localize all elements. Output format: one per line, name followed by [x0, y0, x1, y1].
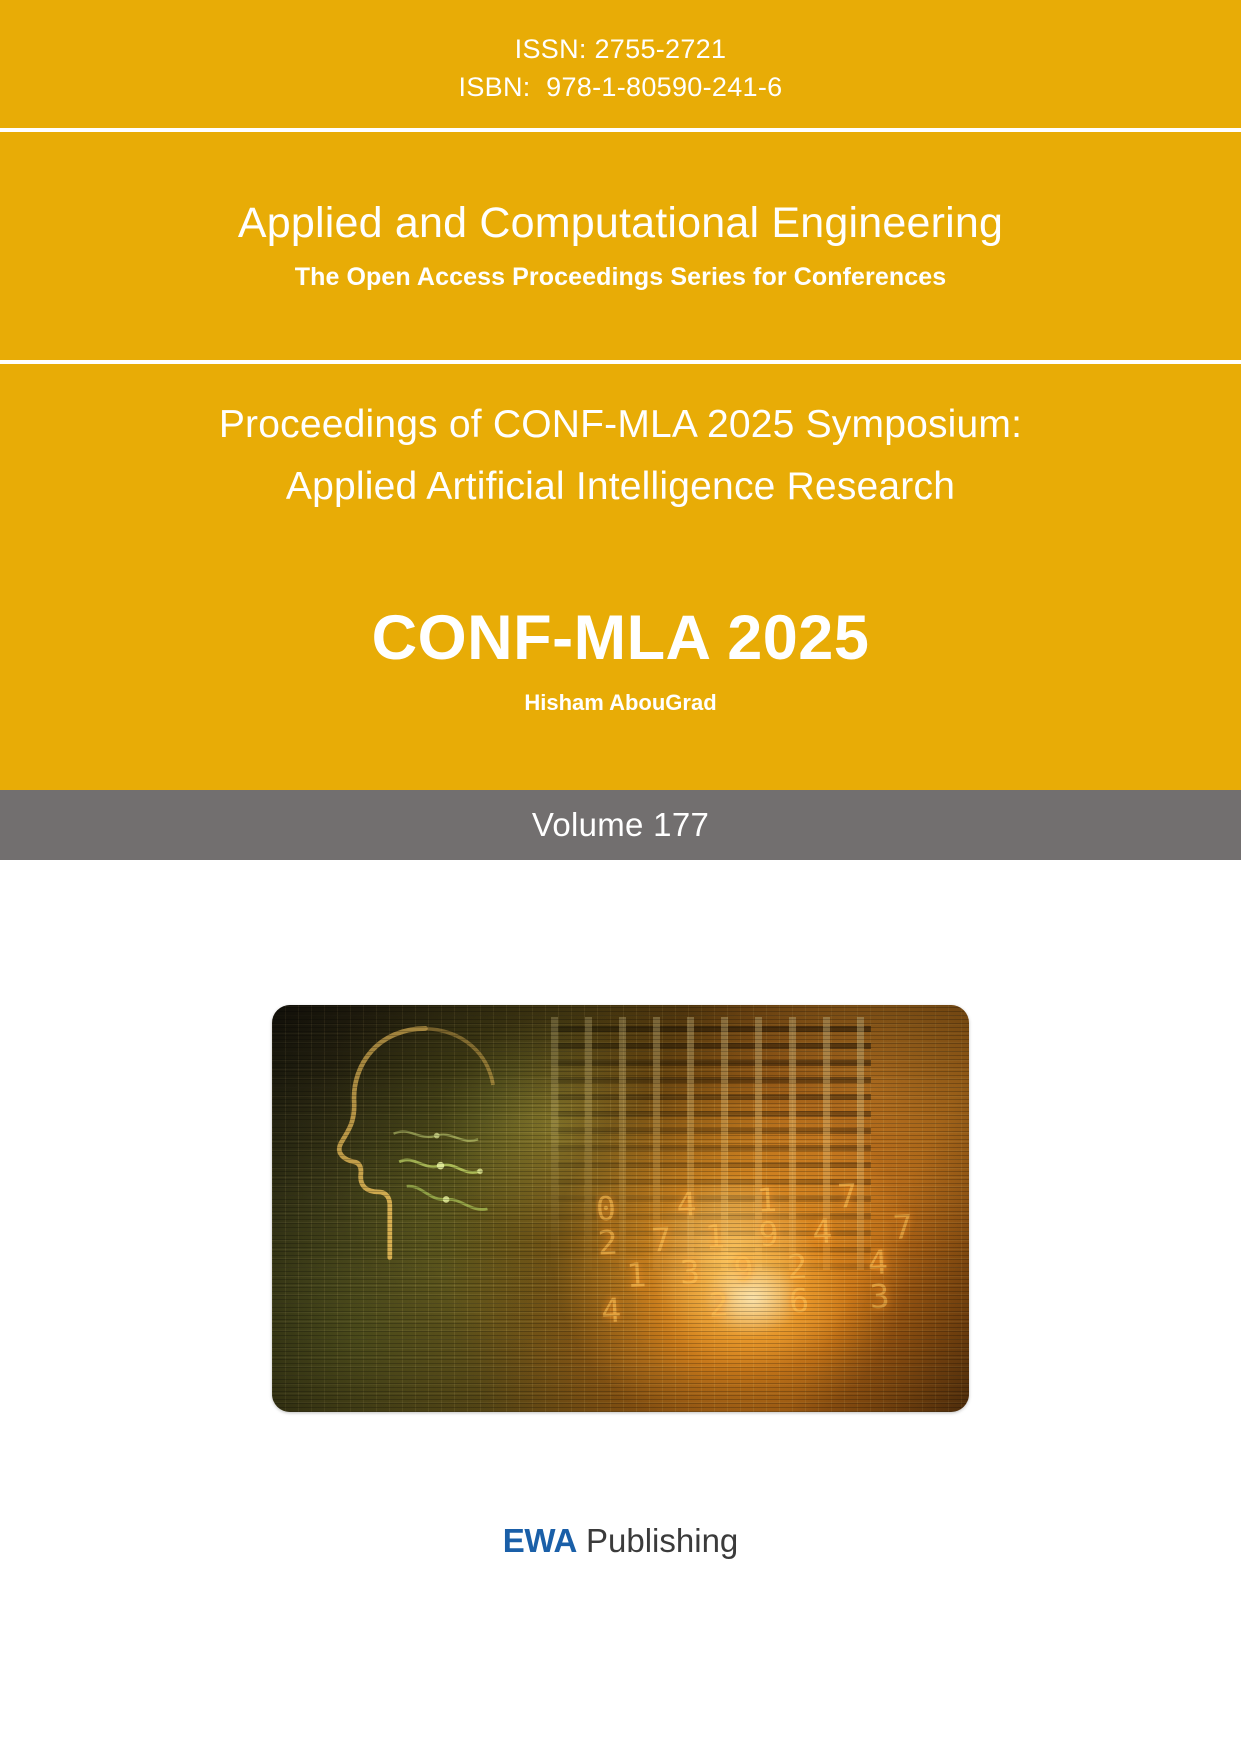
- journal-subtitle: The Open Access Proceedings Series for C…: [295, 258, 947, 296]
- publisher-logo: EWA Publishing: [503, 1522, 739, 1560]
- issn-text: ISSN: 2755-2721: [515, 30, 727, 68]
- cover-lower-section: 0 4 1 7 1 7 2 7 1 9 4 7 0 1 3 9 2 4 1 4 …: [0, 860, 1241, 1754]
- volume-label: Volume 177: [532, 806, 709, 844]
- proceedings-title-line1: Proceedings of CONF-MLA 2025 Symposium:: [219, 394, 1022, 456]
- publisher-brand: EWA: [503, 1522, 577, 1560]
- volume-band: Volume 177: [0, 790, 1241, 860]
- journal-cover: ISSN: 2755-2721 ISBN: 978-1-80590-241-6 …: [0, 0, 1241, 1754]
- identifier-block: ISSN: 2755-2721 ISBN: 978-1-80590-241-6: [0, 0, 1241, 128]
- cover-artwork: 0 4 1 7 1 7 2 7 1 9 4 7 0 1 3 9 2 4 1 4 …: [272, 1005, 969, 1412]
- proceedings-title-line2: Applied Artificial Intelligence Research: [286, 456, 955, 518]
- conference-name: CONF-MLA 2025: [372, 602, 870, 674]
- journal-identity-block: Applied and Computational Engineering Th…: [0, 132, 1241, 360]
- gold-header-band: ISSN: 2755-2721 ISBN: 978-1-80590-241-6 …: [0, 0, 1241, 790]
- artwork-vignette: [272, 1005, 969, 1412]
- isbn-text: ISBN: 978-1-80590-241-6: [459, 68, 783, 106]
- editor-name: Hisham AbouGrad: [524, 688, 716, 718]
- journal-title: Applied and Computational Engineering: [238, 196, 1003, 250]
- artwork-background: 0 4 1 7 1 7 2 7 1 9 4 7 0 1 3 9 2 4 1 4 …: [272, 1005, 969, 1412]
- publisher-word: Publishing: [586, 1522, 738, 1560]
- proceedings-block: Proceedings of CONF-MLA 2025 Symposium: …: [0, 364, 1241, 790]
